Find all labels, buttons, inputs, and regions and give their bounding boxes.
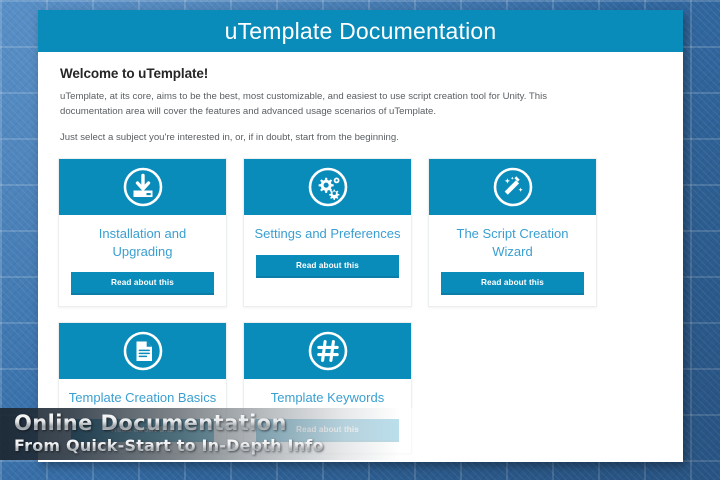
page-title: uTemplate Documentation	[225, 20, 497, 43]
read-about-this-button[interactable]: Read about this	[256, 255, 399, 278]
gears-icon	[307, 166, 349, 208]
card-title[interactable]: The Script Creation Wizard	[429, 215, 596, 271]
hash-icon	[307, 330, 349, 372]
topic-card-wizard[interactable]: The Script Creation Wizard Read about th…	[428, 158, 597, 308]
read-about-this-button[interactable]: Read about this	[441, 272, 584, 295]
intro-paragraph-2: Just select a subject you're interested …	[60, 131, 590, 146]
card-icon-band	[59, 323, 226, 379]
magic-wand-icon	[492, 166, 534, 208]
intro-section: Welcome to uTemplate! uTemplate, at its …	[38, 52, 683, 146]
card-title[interactable]: Installation and Upgrading	[59, 215, 226, 271]
topic-card-installation[interactable]: Installation and Upgrading Read about th…	[58, 158, 227, 308]
card-icon-band	[244, 159, 411, 215]
documentation-page: uTemplate Documentation Welcome to uTemp…	[38, 10, 683, 462]
welcome-heading: Welcome to uTemplate!	[60, 66, 661, 81]
card-icon-band	[59, 159, 226, 215]
read-about-this-button[interactable]: Read about this	[71, 272, 214, 295]
download-icon	[122, 166, 164, 208]
intro-paragraph-1: uTemplate, at its core, aims to be the b…	[60, 90, 590, 120]
card-icon-band	[244, 323, 411, 379]
overlay-title: Online Documentation	[14, 411, 720, 436]
overlay-subtitle: From Quick-Start to In-Depth Info	[14, 436, 720, 455]
document-icon	[122, 330, 164, 372]
card-icon-band	[429, 159, 596, 215]
page-header: uTemplate Documentation	[38, 10, 683, 52]
topic-card-settings[interactable]: Settings and Preferences Read about this	[243, 158, 412, 308]
card-title[interactable]: Settings and Preferences	[247, 215, 409, 253]
lower-third-overlay: Online Documentation From Quick-Start to…	[0, 408, 720, 460]
